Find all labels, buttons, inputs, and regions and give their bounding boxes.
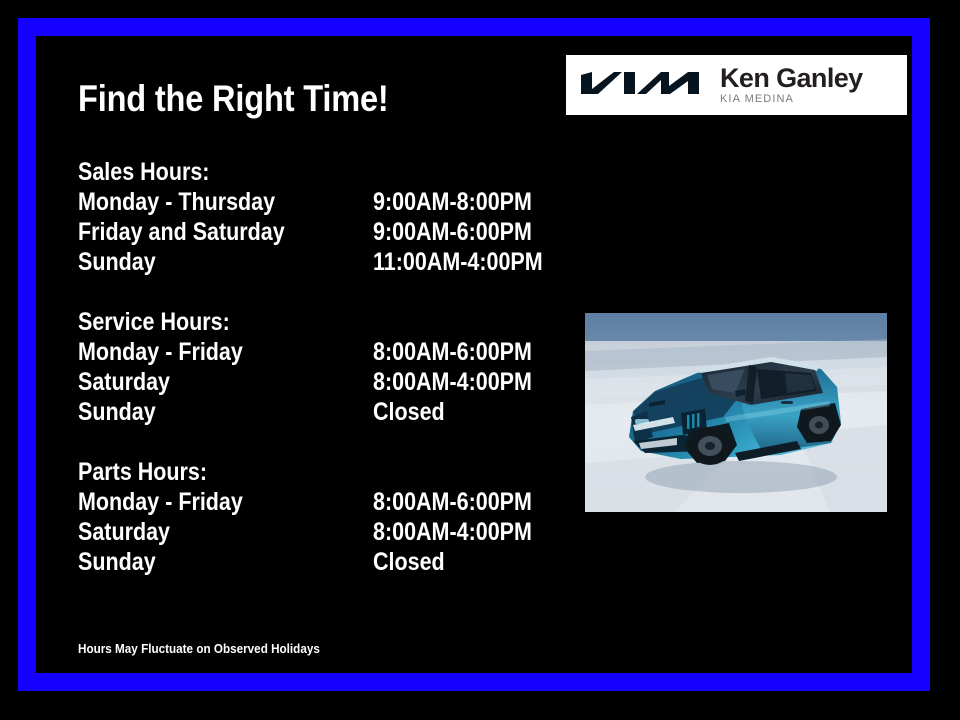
- hours-row-time: 8:00AM-4:00PM: [373, 517, 532, 547]
- dealer-name-group: Ken Ganley KIA MEDINA: [720, 64, 907, 106]
- hours-row-time: Closed: [373, 397, 445, 427]
- hours-heading: Sales Hours:: [78, 157, 482, 187]
- dealer-name: Ken Ganley: [720, 64, 907, 92]
- hours-row-day: Sunday: [78, 247, 332, 277]
- hours-row: Monday - Friday 8:00AM-6:00PM: [78, 487, 548, 517]
- dealer-subtitle: KIA MEDINA: [720, 93, 907, 106]
- hours-heading: Parts Hours:: [78, 457, 482, 487]
- hours-row-time: 8:00AM-6:00PM: [373, 487, 532, 517]
- kia-logo-mark: [578, 68, 706, 102]
- hours-row-time: 9:00AM-6:00PM: [373, 217, 532, 247]
- hours-row: Sunday Closed: [78, 547, 548, 577]
- hours-row-time: Closed: [373, 547, 445, 577]
- disclaimer-text: Hours May Fluctuate on Observed Holidays: [78, 641, 320, 657]
- hours-block-parts: Parts Hours: Monday - Friday 8:00AM-6:00…: [78, 457, 548, 577]
- hours-row-time: 8:00AM-4:00PM: [373, 367, 532, 397]
- hours-row-day: Sunday: [78, 547, 332, 577]
- hours-row-day: Monday - Friday: [78, 337, 332, 367]
- hours-block-service: Service Hours: Monday - Friday 8:00AM-6:…: [78, 307, 548, 427]
- hours-row-day: Monday - Friday: [78, 487, 332, 517]
- hours-row: Monday - Thursday 9:00AM-8:00PM: [78, 187, 548, 217]
- dealer-logo: Ken Ganley KIA MEDINA: [566, 55, 907, 115]
- hours-row-day: Monday - Thursday: [78, 187, 332, 217]
- hours-row: Sunday Closed: [78, 397, 548, 427]
- hours-row-time: 8:00AM-6:00PM: [373, 337, 532, 367]
- hours-row: Sunday 11:00AM-4:00PM: [78, 247, 548, 277]
- hours-row-time: 9:00AM-8:00PM: [373, 187, 532, 217]
- hours-heading: Service Hours:: [78, 307, 482, 337]
- hours-row-time: 11:00AM-4:00PM: [373, 247, 543, 277]
- hours-row-day: Saturday: [78, 367, 332, 397]
- slide-root: Find the Right Time! Ken Ganley KIA MEDI…: [0, 0, 960, 720]
- kia-ev9-suv-photo: [585, 313, 887, 512]
- hours-row: Monday - Friday 8:00AM-6:00PM: [78, 337, 548, 367]
- hours-row-day: Sunday: [78, 397, 332, 427]
- hours-row: Saturday 8:00AM-4:00PM: [78, 367, 548, 397]
- hours-row: Friday and Saturday 9:00AM-6:00PM: [78, 217, 548, 247]
- hours-row-day: Friday and Saturday: [78, 217, 332, 247]
- hours-row: Saturday 8:00AM-4:00PM: [78, 517, 548, 547]
- hours-row-day: Saturday: [78, 517, 332, 547]
- page-title: Find the Right Time!: [78, 79, 389, 119]
- hours-list: Sales Hours: Monday - Thursday 9:00AM-8:…: [78, 157, 548, 577]
- hours-block-sales: Sales Hours: Monday - Thursday 9:00AM-8:…: [78, 157, 548, 277]
